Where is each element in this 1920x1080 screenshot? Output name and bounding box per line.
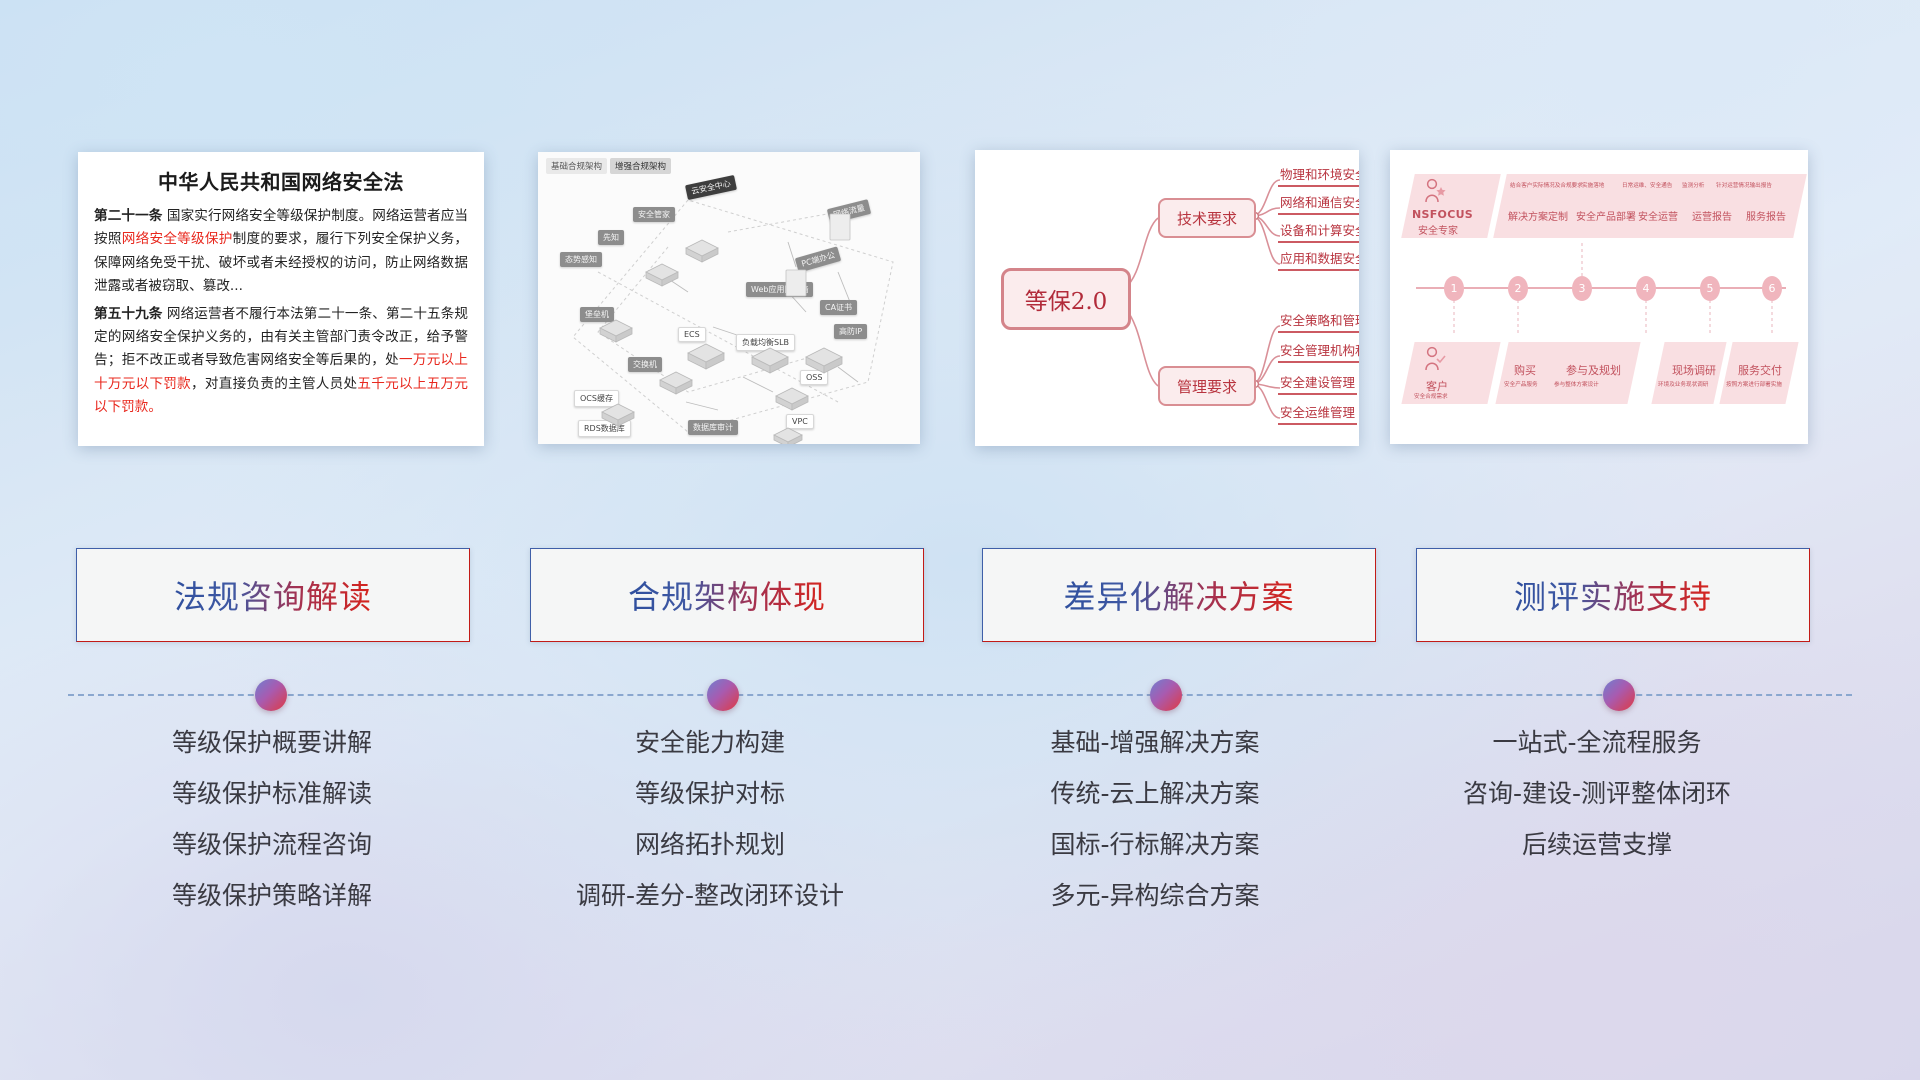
list-item: 咨询-建设-测评整体闭环: [1382, 781, 1812, 806]
customer-person-icon: [1424, 346, 1446, 372]
mindmap-branch-management: 管理要求: [1158, 366, 1256, 406]
mindmap: 等保2.0 技术要求 管理要求 物理和环境安全 网络和通信安全 设备和计算安全 …: [975, 150, 1359, 446]
poster-canvas: 中华人民共和国网络安全法 第二十一条 国家实行网络安全等级保护制度。网络运营者应…: [0, 0, 1920, 1080]
mindmap-leaf-physical: 物理和环境安全: [1278, 164, 1359, 187]
mindmap-leaf-network: 网络和通信安全: [1278, 192, 1359, 215]
preview-cards-row: 中华人民共和国网络安全法 第二十一条 国家实行网络安全等级保护制度。网络运营者应…: [0, 0, 1920, 460]
card-cybersecurity-law[interactable]: 中华人民共和国网络安全法 第二十一条 国家实行网络安全等级保护制度。网络运营者应…: [78, 152, 484, 446]
architecture-diagram: 基础合规架构 增强合规架构: [538, 152, 920, 444]
law-article-59: 第五十九条 网络运营者不履行本法第二十一条、第二十五条规定的网络安全保护义务的，…: [94, 303, 468, 420]
mindmap-leaf-device: 设备和计算安全: [1278, 220, 1359, 243]
bottom-micro-3: 环境及业务现状调研: [1658, 380, 1708, 388]
step-marker-5: 5: [1700, 276, 1720, 301]
bottom-micro-0: 安全合规需求: [1414, 392, 1448, 400]
law-article-21-label: 第二十一条: [94, 208, 162, 224]
section-items-col-3: 一站式-全流程服务 咨询-建设-测评整体闭环 后续运营支撑: [1382, 730, 1812, 883]
section-items-col-0: 等级保护概要讲解 等级保护标准解读 等级保护流程咨询 等级保护策略详解: [57, 730, 487, 934]
bottom-label-2: 参与及规划: [1566, 362, 1621, 378]
list-item: 调研-差分-整改闭环设计: [495, 883, 925, 908]
timeline-dot-0[interactable]: [255, 679, 287, 711]
law-document: 中华人民共和国网络安全法 第二十一条 国家实行网络安全等级保护制度。网络运营者应…: [78, 152, 484, 446]
timeline-dashed-line: [68, 694, 1852, 696]
list-item: 等级保护对标: [495, 781, 925, 806]
list-item: 一站式-全流程服务: [1382, 730, 1812, 755]
section-items-col-2: 基础-增强解决方案 传统-云上解决方案 国标-行标解决方案 多元-异构综合方案: [940, 730, 1370, 934]
mindmap-leaf-org: 安全管理机构和人员: [1278, 340, 1359, 363]
list-item: 等级保护策略详解: [57, 883, 487, 908]
section-title-row: 法规咨询解读 合规架构体现 差异化解决方案 测评实施支持: [0, 548, 1920, 648]
law-article-59-label: 第五十九条: [94, 306, 162, 322]
bottom-label-1: 购买: [1514, 362, 1536, 378]
step-marker-2: 2: [1508, 276, 1528, 301]
service-flow: NSFOCUS 安全专家 结合客户实际情况及合规要求 实施落地 日常运维、安全通…: [1390, 150, 1808, 444]
card-dengbao-mindmap[interactable]: 等保2.0 技术要求 管理要求 物理和环境安全 网络和通信安全 设备和计算安全 …: [975, 150, 1359, 446]
timeline-row: [0, 660, 1920, 720]
list-item: 网络拓扑规划: [495, 832, 925, 857]
bottom-micro-1: 安全产品服务: [1504, 380, 1538, 388]
timeline-dot-2[interactable]: [1150, 679, 1182, 711]
bottom-micro-2: 参与整体方案设计: [1554, 380, 1599, 388]
list-item: 国标-行标解决方案: [940, 832, 1370, 857]
list-item: 多元-异构综合方案: [940, 883, 1370, 908]
bottom-micro-4: 按照方案进行部署实施: [1726, 380, 1782, 388]
mindmap-leaf-application: 应用和数据安全: [1278, 248, 1359, 271]
law-article-21: 第二十一条 国家实行网络安全等级保护制度。网络运营者应当按照网络安全等级保护制度…: [94, 205, 468, 299]
section-title-box-0[interactable]: 法规咨询解读: [76, 548, 470, 642]
timeline-dot-1[interactable]: [707, 679, 739, 711]
section-title-label-3: 测评实施支持: [1514, 572, 1712, 618]
list-item: 等级保护流程咨询: [57, 832, 487, 857]
section-title-box-2[interactable]: 差异化解决方案: [982, 548, 1376, 642]
mindmap-leaf-construction: 安全建设管理: [1278, 372, 1357, 395]
card-compliance-architecture[interactable]: 基础合规架构 增强合规架构: [538, 152, 920, 444]
step-marker-4: 4: [1636, 276, 1656, 301]
timeline-dot-3[interactable]: [1603, 679, 1635, 711]
section-items-row: 等级保护概要讲解 等级保护标准解读 等级保护流程咨询 等级保护策略详解 安全能力…: [0, 730, 1920, 1050]
section-items-col-1: 安全能力构建 等级保护对标 网络拓扑规划 调研-差分-整改闭环设计: [495, 730, 925, 934]
mindmap-branch-technical: 技术要求: [1158, 198, 1256, 238]
list-item: 等级保护标准解读: [57, 781, 487, 806]
step-marker-6: 6: [1762, 276, 1782, 301]
law-article-21-highlight: 网络安全等级保护: [122, 231, 233, 247]
list-item: 传统-云上解决方案: [940, 781, 1370, 806]
section-title-box-3[interactable]: 测评实施支持: [1416, 548, 1810, 642]
mindmap-leaf-policy: 安全策略和管理制度: [1278, 310, 1359, 333]
section-title-label-2: 差异化解决方案: [1063, 572, 1294, 618]
section-title-label-1: 合规架构体现: [628, 572, 826, 618]
card-service-timeline[interactable]: NSFOCUS 安全专家 结合客户实际情况及合规要求 实施落地 日常运维、安全通…: [1390, 150, 1808, 444]
list-item: 安全能力构建: [495, 730, 925, 755]
mindmap-root: 等保2.0: [1001, 268, 1131, 330]
section-title-box-1[interactable]: 合规架构体现: [530, 548, 924, 642]
architecture-server-icons: [538, 152, 920, 444]
mindmap-leaf-operations: 安全运维管理: [1278, 402, 1357, 425]
bottom-label-3: 现场调研: [1672, 362, 1716, 378]
law-title: 中华人民共和国网络安全法: [94, 166, 468, 195]
law-article-59-text-2: ，对直接负责的主管人员处: [191, 376, 357, 392]
step-marker-1: 1: [1444, 276, 1464, 301]
step-marker-3: 3: [1572, 276, 1592, 301]
list-item: 基础-增强解决方案: [940, 730, 1370, 755]
section-title-label-0: 法规咨询解读: [174, 572, 372, 618]
list-item: 后续运营支撑: [1382, 832, 1812, 857]
list-item: 等级保护概要讲解: [57, 730, 487, 755]
bottom-label-4: 服务交付: [1738, 362, 1782, 378]
